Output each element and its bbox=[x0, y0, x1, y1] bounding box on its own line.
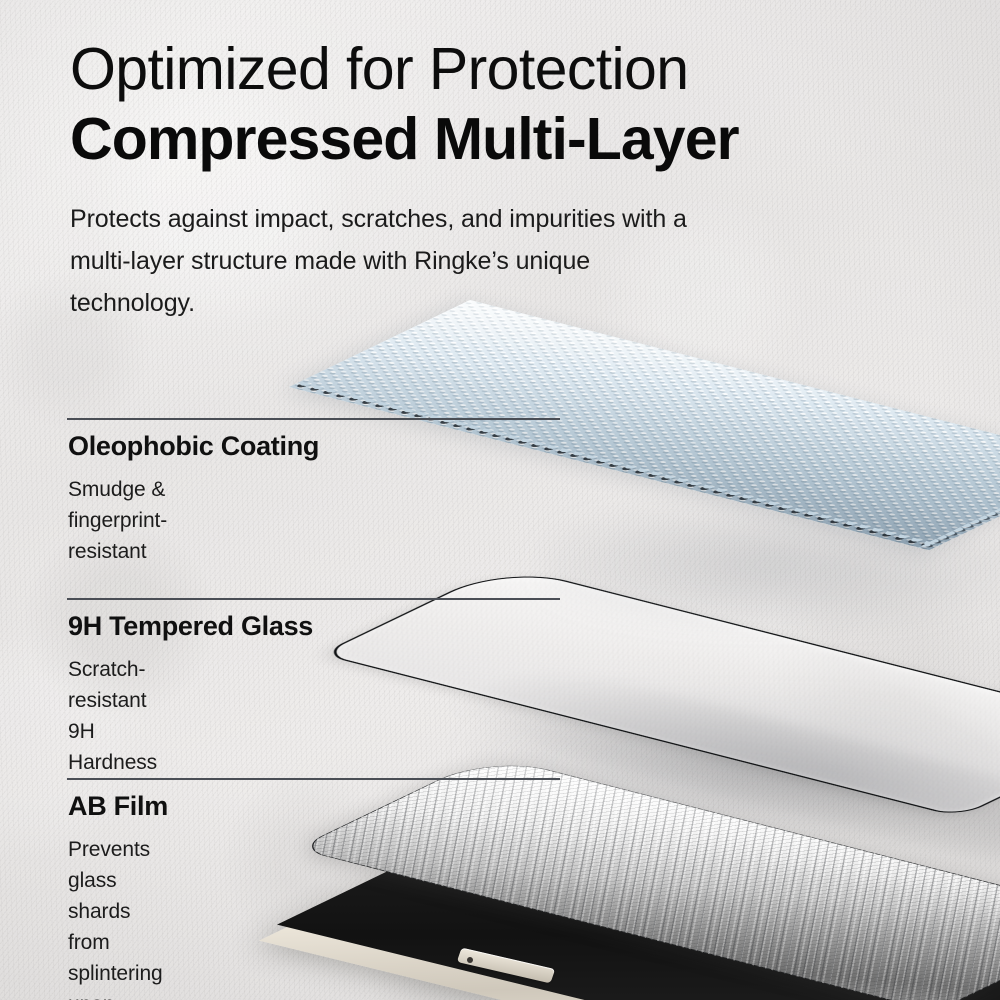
callout-title: AB Film bbox=[68, 791, 168, 822]
callout-title: 9H Tempered Glass bbox=[68, 611, 313, 642]
callout-rule-line bbox=[67, 778, 560, 780]
headline-line-2: Compressed Multi-Layer bbox=[70, 106, 910, 172]
callout-rule-line bbox=[67, 418, 560, 420]
headline-block: Optimized for Protection Compressed Mult… bbox=[70, 36, 910, 172]
callout-description: Smudge & fingerprint-resistant bbox=[68, 474, 167, 567]
intro-paragraph: Protects against impact, scratches, and … bbox=[70, 198, 690, 324]
callout-description: Prevents glass shards from splintering u… bbox=[68, 834, 163, 1000]
infographic-canvas: Optimized for Protection Compressed Mult… bbox=[0, 0, 1000, 1000]
text-content: Optimized for Protection Compressed Mult… bbox=[0, 0, 1000, 1000]
callout-rule-line bbox=[67, 598, 560, 600]
headline-line-1: Optimized for Protection bbox=[70, 36, 910, 102]
callout-description: Scratch-resistant 9H Hardness bbox=[68, 654, 157, 778]
callout-title: Oleophobic Coating bbox=[68, 431, 319, 462]
